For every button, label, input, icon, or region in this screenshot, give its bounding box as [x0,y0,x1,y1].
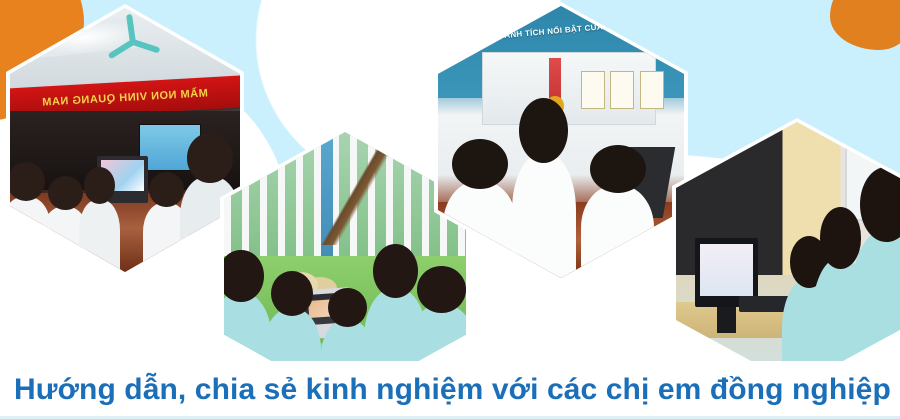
caption-text: Hướng dẫn, chia sẻ kinh nghiệm với các c… [14,375,891,405]
ceiling-fan-icon [109,32,171,52]
slide-canvas: MẦM NON VINH QUANG NAM [0,0,900,419]
caption-band: Hướng dẫn, chia sẻ kinh nghiệm với các c… [0,361,900,419]
person [512,153,576,278]
